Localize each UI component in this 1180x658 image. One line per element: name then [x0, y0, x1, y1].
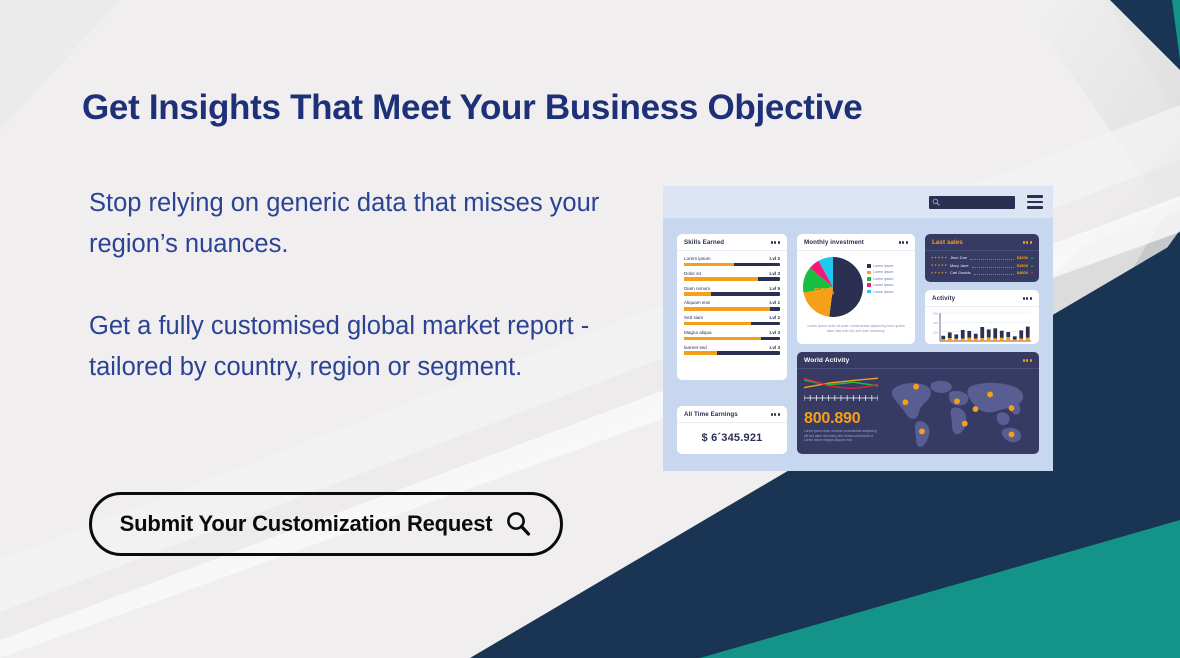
- skill-progress-fill: [684, 277, 758, 281]
- submit-customization-request-button[interactable]: Submit Your Customization Request: [89, 492, 563, 556]
- bar-segment-upper: [1013, 336, 1017, 339]
- star-icon: [938, 271, 940, 273]
- skill-row-header: Lorem ipsumLvl 2: [684, 256, 780, 261]
- sale-amount: $1500: [1017, 263, 1028, 268]
- legend-label: Lorem ipsum: [873, 270, 893, 274]
- skill-row-header: Diam nonumLvl 5: [684, 286, 780, 291]
- y-axis-tick-label: 200: [933, 321, 938, 325]
- skill-level: Lvl 2: [770, 315, 780, 320]
- sale-customer-name: Jhon Doe: [950, 255, 967, 260]
- dashboard-topbar: [663, 186, 1053, 218]
- legend-item: Lorem ipsum: [867, 264, 893, 268]
- skill-progress-fill: [684, 337, 761, 341]
- skill-progress-bar: [684, 351, 780, 355]
- promo-banner: Get Insights That Meet Your Business Obj…: [0, 0, 1180, 658]
- star-icon: [931, 271, 933, 273]
- legend-swatch: [867, 283, 871, 287]
- leader-dots: [970, 255, 1014, 260]
- map-marker: [1009, 431, 1015, 437]
- skill-progress-bar: [684, 292, 780, 296]
- star-icon: [931, 264, 933, 266]
- bar-segment-upper: [1006, 332, 1010, 337]
- bar-segment-upper: [941, 336, 945, 340]
- card-header: Activity: [925, 290, 1039, 307]
- skill-row: Magna aliquaLvl 3: [684, 330, 780, 340]
- map-marker: [1009, 405, 1015, 411]
- skill-progress-bar: [684, 337, 780, 341]
- star-icon: [934, 256, 936, 258]
- map-marker: [902, 399, 908, 405]
- star-icon: [938, 256, 940, 258]
- sale-row: Mary Jane$1500▴: [931, 263, 1033, 268]
- star-icon: [934, 264, 936, 266]
- bar-segment-base: [941, 339, 945, 341]
- skill-name: Sed siam: [684, 315, 703, 320]
- skill-progress-bar: [684, 307, 780, 311]
- star-icon: [941, 256, 943, 258]
- bar-segment-base: [1006, 337, 1010, 341]
- legend-swatch: [867, 264, 871, 268]
- body-paragraph-2: Get a fully customised global market rep…: [89, 306, 634, 388]
- star-icon: [945, 271, 947, 273]
- skill-row: laoreet sedLvl 3: [684, 345, 780, 355]
- sale-row: Carl Davids$4800▾: [931, 270, 1033, 275]
- skill-row: Diam nonumLvl 5: [684, 286, 780, 296]
- more-options-icon[interactable]: [1023, 241, 1032, 243]
- bar-segment-upper: [954, 334, 958, 338]
- bar-segment-base: [961, 339, 965, 341]
- skill-progress-fill: [684, 351, 717, 355]
- body-copy: Stop relying on generic data that misses…: [89, 183, 634, 388]
- bar-segment-base: [1026, 338, 1030, 341]
- bar-segment-upper: [1019, 330, 1023, 338]
- pie-center-label: 52%: [814, 287, 834, 298]
- bar-segment-base: [993, 338, 997, 341]
- more-options-icon[interactable]: [771, 413, 780, 415]
- bar-segment-base: [948, 338, 952, 341]
- search-icon: [932, 198, 940, 206]
- bar-segment-upper: [974, 334, 978, 339]
- body-paragraph-1: Stop relying on generic data that misses…: [89, 183, 634, 265]
- world-map: [884, 373, 1033, 456]
- world-card-body: 800.890 Lorem ipsum dolor sit amet conse…: [797, 369, 1039, 456]
- band-gray-top: [1040, 0, 1180, 120]
- map-marker: [919, 429, 925, 435]
- sale-amount: $3200: [1017, 255, 1028, 260]
- bar-segment-upper: [980, 327, 984, 338]
- bar-segment-upper: [948, 332, 952, 338]
- map-marker: [973, 406, 979, 412]
- legend-swatch: [867, 271, 871, 275]
- card-header: Monthly investment: [797, 234, 915, 251]
- bar-segment-base: [967, 338, 971, 341]
- bar-segment-base: [987, 337, 991, 341]
- sale-customer-name: Mary Jane: [950, 263, 969, 268]
- card-header: Last sales: [925, 234, 1039, 251]
- more-options-icon[interactable]: [1023, 359, 1032, 361]
- skill-name: Diam nonum: [684, 286, 710, 291]
- bar-segment-upper: [1026, 327, 1030, 338]
- skill-progress-fill: [684, 263, 734, 267]
- skill-row: Dolor sitLvl 3: [684, 271, 780, 281]
- trend-down-icon: ▾: [1031, 270, 1033, 275]
- skill-progress-fill: [684, 292, 711, 296]
- sales-list: Jhon Doe$3200▴Mary Jane$1500▴Carl Davids…: [925, 251, 1039, 275]
- sale-customer-name: Carl Davids: [950, 270, 971, 275]
- bar-segment-base: [974, 339, 978, 341]
- skill-progress-fill: [684, 307, 770, 311]
- world-big-number: 800.890: [804, 410, 878, 428]
- pie-legend: Lorem ipsumLorem ipsumLorem ipsumLorem i…: [867, 257, 893, 322]
- rating-stars: [931, 271, 947, 273]
- sale-row: Jhon Doe$3200▴: [931, 255, 1033, 260]
- skill-level: Lvl 1: [770, 300, 780, 305]
- world-activity-card: World Activity 800.890 Lorem ipsum dolor…: [797, 352, 1039, 454]
- card-header: All Time Earnings: [677, 406, 787, 423]
- star-icon: [941, 271, 943, 273]
- bar-segment-upper: [987, 329, 991, 337]
- legend-swatch: [867, 277, 871, 281]
- star-icon: [945, 256, 947, 258]
- skill-name: laoreet sed: [684, 345, 707, 350]
- skill-row-header: Dolor sitLvl 3: [684, 271, 780, 276]
- earnings-card-title: All Time Earnings: [684, 411, 738, 418]
- skills-earned-card: Skills Earned Lorem ipsumLvl 2Dolor sitL…: [677, 234, 787, 380]
- pie-slice: [829, 257, 863, 317]
- star-icon: [931, 256, 933, 258]
- skill-progress-bar: [684, 322, 780, 326]
- y-axis-tick-label: 300: [933, 312, 938, 316]
- sales-card-title: Last sales: [932, 239, 963, 246]
- bar-segment-upper: [961, 330, 965, 339]
- legend-item: Lorem ipsum: [867, 290, 893, 294]
- legend-item: Lorem ipsum: [867, 283, 893, 287]
- map-marker: [987, 392, 993, 398]
- world-card-note: Lorem ipsum dolor sit amet consectetuer …: [804, 429, 878, 443]
- skill-progress-bar: [684, 263, 780, 267]
- paragraph-spacer: [89, 265, 634, 306]
- skill-row-header: Aliquam eratLvl 1: [684, 300, 780, 305]
- legend-item: Lorem ipsum: [867, 270, 893, 274]
- bar-segment-base: [1000, 338, 1004, 341]
- band-teal-bottom: [700, 520, 1180, 658]
- bar-segment-base: [1013, 340, 1017, 341]
- skill-row-header: Sed siamLvl 2: [684, 315, 780, 320]
- skill-row: Aliquam eratLvl 1: [684, 300, 780, 310]
- monthly-investment-card: Monthly investment 52% Lorem ipsumLorem …: [797, 234, 915, 344]
- skills-list: Lorem ipsumLvl 2Dolor sitLvl 3Diam nonum…: [677, 251, 787, 355]
- bar-segment-upper: [993, 328, 997, 338]
- skill-row: Sed siamLvl 2: [684, 315, 780, 325]
- leader-dots: [974, 270, 1014, 275]
- skill-progress-bar: [684, 277, 780, 281]
- card-header: Skills Earned: [677, 234, 787, 251]
- world-card-title: World Activity: [804, 357, 849, 364]
- bar-segment-upper: [967, 331, 971, 338]
- bar-segment-base: [1019, 339, 1023, 341]
- page-title: Get Insights That Meet Your Business Obj…: [82, 88, 982, 128]
- activity-card: Activity 100200300: [925, 290, 1039, 344]
- activity-card-title: Activity: [932, 295, 955, 302]
- skill-level: Lvl 5: [770, 286, 780, 291]
- activity-bar-chart: 100200300: [925, 307, 1039, 350]
- dashboard-search-input[interactable]: [929, 196, 1015, 209]
- more-options-icon[interactable]: [899, 241, 908, 243]
- skill-row-header: laoreet sedLvl 3: [684, 345, 780, 350]
- cta-label: Submit Your Customization Request: [120, 511, 493, 537]
- legend-item: Lorem ipsum: [867, 277, 893, 281]
- skill-progress-fill: [684, 322, 751, 326]
- skill-level: Lvl 2: [770, 256, 780, 261]
- map-marker: [913, 384, 919, 390]
- invest-card-title: Monthly investment: [804, 239, 864, 246]
- last-sales-card: Last sales Jhon Doe$3200▴Mary Jane$1500▴…: [925, 234, 1039, 282]
- skill-row: Lorem ipsumLvl 2: [684, 256, 780, 266]
- skill-level: Lvl 3: [770, 345, 780, 350]
- trend-up-icon: ▴: [1031, 255, 1033, 260]
- more-options-icon[interactable]: [771, 241, 780, 243]
- all-time-earnings-card: All Time Earnings $ 6´345.921: [677, 406, 787, 454]
- sale-amount: $4800: [1017, 270, 1028, 275]
- dashboard-illustration: Skills Earned Lorem ipsumLvl 2Dolor sitL…: [663, 186, 1053, 471]
- pie-chart-area: 52% Lorem ipsumLorem ipsumLorem ipsumLor…: [797, 251, 915, 322]
- skill-name: Magna aliqua: [684, 330, 712, 335]
- star-icon: [945, 264, 947, 266]
- skill-name: Dolor sit: [684, 271, 701, 276]
- map-landmasses: [892, 381, 1023, 447]
- legend-label: Lorem ipsum: [873, 290, 893, 294]
- skill-name: Lorem ipsum: [684, 256, 711, 261]
- skills-card-title: Skills Earned: [684, 239, 724, 246]
- rating-stars: [931, 264, 947, 266]
- skill-level: Lvl 3: [770, 271, 780, 276]
- leader-dots: [972, 263, 1014, 268]
- star-icon: [941, 264, 943, 266]
- y-axis-tick-label: 100: [933, 330, 938, 334]
- legend-label: Lorem ipsum: [873, 277, 893, 281]
- bar-segment-base: [954, 339, 958, 341]
- skill-level: Lvl 3: [770, 330, 780, 335]
- map-marker: [962, 421, 968, 427]
- invest-card-note: Lorem ipsum dolor sit amet, consectetuer…: [797, 322, 915, 334]
- rating-stars: [931, 256, 947, 258]
- bar-segment-base: [980, 338, 984, 341]
- star-icon: [934, 271, 936, 273]
- card-header: World Activity: [797, 352, 1039, 369]
- legend-label: Lorem ipsum: [873, 264, 893, 268]
- skill-row-header: Magna aliquaLvl 3: [684, 330, 780, 335]
- more-options-icon[interactable]: [1023, 297, 1032, 299]
- legend-label: Lorem ipsum: [873, 283, 893, 287]
- bar-segment-upper: [1000, 331, 1004, 338]
- trend-up-icon: ▴: [1031, 263, 1033, 268]
- star-icon: [938, 264, 940, 266]
- world-stats: 800.890 Lorem ipsum dolor sit amet conse…: [804, 373, 878, 456]
- band-teal-topright: [1172, 0, 1180, 60]
- map-marker: [954, 398, 960, 404]
- search-icon: [504, 509, 532, 540]
- earnings-value: $ 6´345.921: [677, 423, 787, 453]
- legend-swatch: [867, 290, 871, 294]
- skill-name: Aliquam erat: [684, 300, 710, 305]
- pie-chart: 52%: [803, 257, 863, 322]
- hamburger-icon[interactable]: [1027, 195, 1043, 208]
